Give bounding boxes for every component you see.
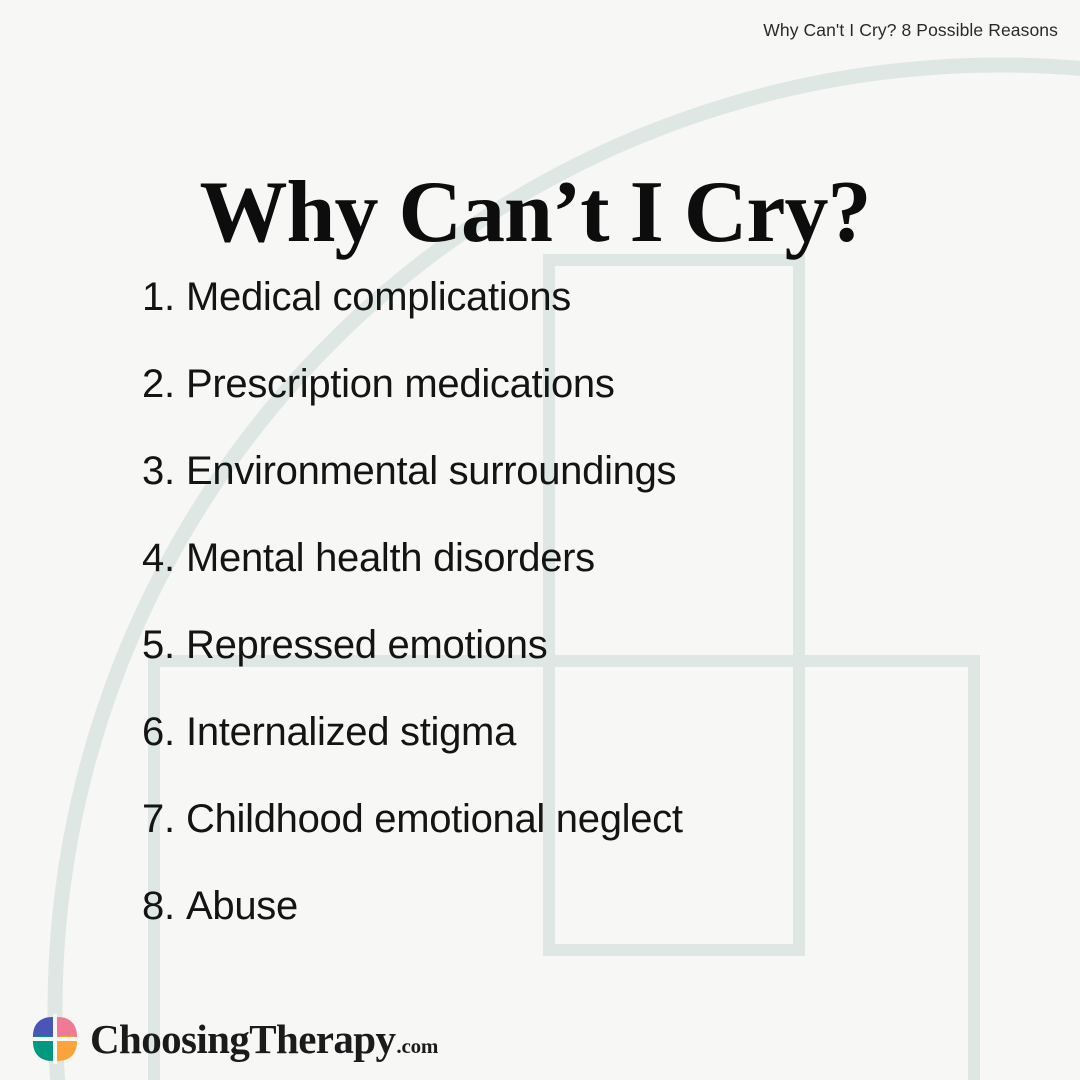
list-item-label: Environmental surroundings <box>186 449 676 494</box>
list-item: 5. Repressed emotions <box>142 623 972 710</box>
list-item-number: 4. <box>142 536 186 581</box>
pinwheel-cross-gap <box>30 1014 80 1064</box>
list-item-number: 7. <box>142 797 186 842</box>
list-item-label: Childhood emotional neglect <box>186 797 683 842</box>
list-item: 1. Medical complications <box>142 275 972 362</box>
list-item-number: 8. <box>142 884 186 929</box>
list-item-number: 6. <box>142 710 186 755</box>
list-item-label: Prescription medications <box>186 362 615 407</box>
article-title-label: Why Can't I Cry? 8 Possible Reasons <box>763 20 1058 41</box>
list-item-number: 1. <box>142 275 186 320</box>
list-item-label: Abuse <box>186 884 298 929</box>
list-item-label: Internalized stigma <box>186 710 516 755</box>
list-item-label: Mental health disorders <box>186 536 595 581</box>
list-item-number: 5. <box>142 623 186 668</box>
list-item: 2. Prescription medications <box>142 362 972 449</box>
list-item-label: Medical complications <box>186 275 571 320</box>
list-item-label: Repressed emotions <box>186 623 547 668</box>
choosingtherapy-pinwheel-icon <box>30 1014 80 1064</box>
list-item: 7. Childhood emotional neglect <box>142 797 972 884</box>
brand-tld: .com <box>396 1034 438 1059</box>
brand-name: ChoosingTherapy <box>90 1015 395 1063</box>
list-item: 6. Internalized stigma <box>142 710 972 797</box>
page-title: Why Can’t I Cry? <box>0 167 1080 259</box>
infographic-canvas: Why Can't I Cry? 8 Possible Reasons Why … <box>0 0 1080 1080</box>
brand-logo[interactable]: ChoosingTherapy .com <box>30 1014 438 1064</box>
list-item: 8. Abuse <box>142 884 972 971</box>
list-item: 4. Mental health disorders <box>142 536 972 623</box>
reasons-list: 1. Medical complications 2. Prescription… <box>142 275 972 971</box>
brand-wordmark: ChoosingTherapy .com <box>90 1015 438 1063</box>
list-item-number: 3. <box>142 449 186 494</box>
list-item-number: 2. <box>142 362 186 407</box>
list-item: 3. Environmental surroundings <box>142 449 972 536</box>
